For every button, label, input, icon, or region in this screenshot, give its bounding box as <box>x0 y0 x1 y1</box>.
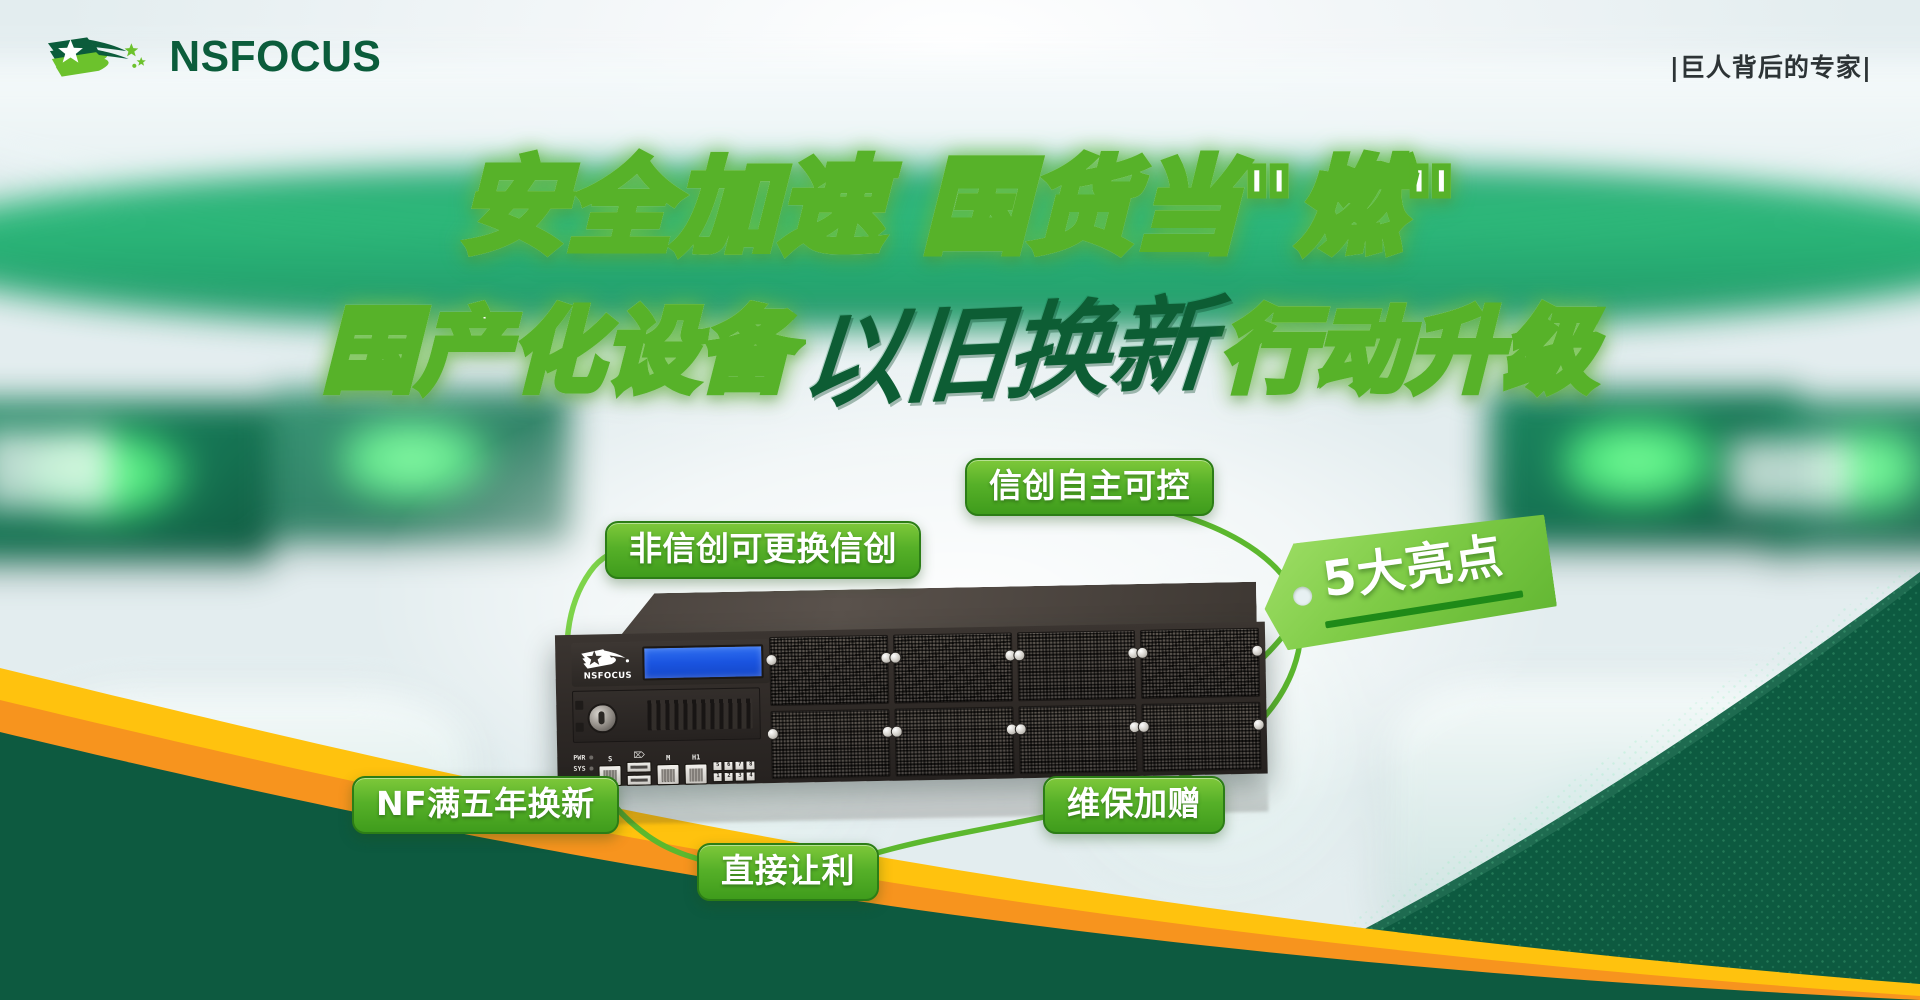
port-h1-label: H1 <box>692 753 701 761</box>
svg-text:NSFOCUS: NSFOCUS <box>584 671 633 682</box>
promo-banner: NSFOCUS |巨人背后的专家| 安全加速 国货当"燃" 国产化设备以旧换新行… <box>0 0 1920 1000</box>
port-ha-h1: H1 <box>685 753 709 784</box>
led-sys: SYS <box>573 764 593 772</box>
appliance-front-face: NSFOCUS PWR <box>555 622 1268 788</box>
drive-bay <box>1142 701 1262 772</box>
appliance-left-bezel: NSFOCUS PWR <box>565 635 764 783</box>
bay-screw-icon <box>1013 649 1025 661</box>
appliance-vent-grille <box>647 698 753 730</box>
port-num-6: 6 <box>724 761 734 771</box>
appliance-lock-module <box>572 687 761 743</box>
port-s-label: S <box>608 755 612 763</box>
headline-line-1: 安全加速 国货当"燃" <box>0 122 1920 273</box>
headline-line-2-right: 行动升级 <box>1221 277 1597 410</box>
appliance-key-lock[interactable] <box>573 692 648 739</box>
port-num-8: 8 <box>746 760 756 770</box>
usb-port-stack <box>627 761 652 785</box>
bay-screw-icon <box>890 725 902 737</box>
logo-wordmark: NSFOCUS <box>169 35 381 79</box>
feature-pill-direct-discount[interactable]: 直接让利 <box>697 843 879 901</box>
bay-screw-icon <box>1251 645 1263 657</box>
port-num-7: 7 <box>735 761 745 771</box>
led-pwr-label: PWR <box>573 754 585 762</box>
nsfocus-flag-star-logo-icon <box>44 33 152 81</box>
feature-pill-nf-five-year[interactable]: NF满五年换新 <box>352 776 619 834</box>
appliance-lcd-row: NSFOCUS <box>571 639 770 687</box>
power-key-knob-icon[interactable] <box>587 703 618 734</box>
drive-bay <box>769 635 889 706</box>
drive-bay-row-top <box>769 628 1260 706</box>
led-pwr: PWR <box>573 753 593 761</box>
lock-tab-top <box>575 701 583 710</box>
feature-pill-xinchuang-autonomy[interactable]: 信创自主可控 <box>965 458 1214 516</box>
appliance-lcd-screen <box>642 644 764 680</box>
feature-pill-nonxc-to-xc[interactable]: 非信创可更换信创 <box>605 521 921 579</box>
port-number-row-top: 5 6 7 8 <box>713 760 756 771</box>
headline-brush-phrase: 以旧换新 <box>796 259 1218 428</box>
bay-screw-icon <box>1138 720 1150 732</box>
appliance-nsfocus-badge-icon: NSFOCUS <box>577 647 636 682</box>
headline-line-1-text: 安全加速 国货当"燃" <box>461 122 1460 273</box>
drive-bay <box>1016 630 1136 701</box>
headline-line-2: 国产化设备以旧换新行动升级 <box>0 268 1920 419</box>
feature-pill-warranty-bonus[interactable]: 维保加赠 <box>1043 776 1225 834</box>
brand-tagline: |巨人背后的专家| <box>1670 48 1872 84</box>
bay-screw-icon <box>1137 647 1149 659</box>
bay-screw-icon <box>765 654 777 666</box>
drive-bay <box>1140 628 1260 699</box>
led-sys-label: SYS <box>573 765 585 773</box>
port-num-2: 2 <box>724 772 734 782</box>
bay-screw-icon <box>1014 723 1026 735</box>
lock-tab-bottom <box>576 723 584 732</box>
bay-screw-icon <box>889 652 901 664</box>
usb-port-top-icon <box>627 761 652 772</box>
drive-bay <box>1018 704 1138 775</box>
port-mgmt-m: M <box>657 754 681 785</box>
brand-logo: NSFOCUS <box>44 33 385 81</box>
bay-screw-icon <box>1253 718 1265 730</box>
port-num-4: 4 <box>746 771 756 781</box>
drive-bay-row-bottom <box>770 701 1261 779</box>
drive-bay <box>894 706 1014 777</box>
led-sys-indicator-icon <box>590 766 594 770</box>
port-num-5: 5 <box>713 761 723 771</box>
drive-bay <box>770 708 890 779</box>
port-m-label: M <box>666 754 670 762</box>
drive-bay <box>893 632 1013 703</box>
nsfocus-appliance-device: NSFOCUS PWR <box>554 581 1308 795</box>
bay-screw-icon <box>767 727 779 739</box>
port-num-3: 3 <box>735 772 745 782</box>
port-num-1: 1 <box>713 772 723 782</box>
led-pwr-indicator-icon <box>590 755 594 759</box>
usb-icon: ⌦ <box>633 752 644 760</box>
port-usb-dual: ⌦ <box>627 751 653 785</box>
headline-line-2-left: 国产化设备 <box>323 277 793 410</box>
appliance-drive-bays <box>769 628 1262 779</box>
